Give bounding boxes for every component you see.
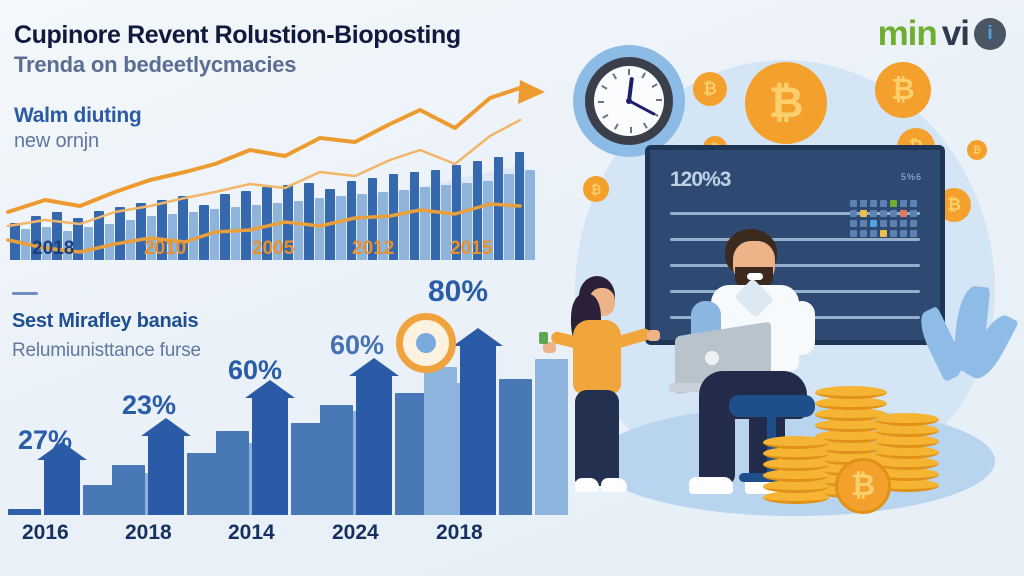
illustration-panel: min vi i: [545, 0, 1024, 576]
bottom-chart: [0, 300, 545, 515]
top-axis-tick-1: 2010: [144, 238, 186, 260]
brand-logo[interactable]: min vi i: [878, 14, 1006, 54]
logo-text-primary: min: [878, 14, 937, 54]
top-chart-trend-lines: [0, 80, 545, 260]
monitor-small-text: 5%6: [901, 172, 922, 182]
person-woman-illustration: [563, 276, 637, 514]
data-label-80: 80%: [428, 275, 488, 309]
bitcoin-coin-large: ₿: [745, 62, 827, 144]
page-title: Cupinore Revent Rolustion-Bioposting: [14, 22, 524, 49]
infographic-canvas: Cupinore Revent Rolustion-Bioposting Tre…: [0, 0, 1024, 576]
bitcoin-coin-small-1: ₿: [693, 72, 727, 106]
plant-decoration: [926, 286, 1016, 466]
trend-arrowhead: [518, 80, 545, 104]
bitcoin-coin-medium: ₿: [875, 62, 931, 118]
bitcoin-coin-front: ₿: [835, 458, 891, 514]
section-divider: [12, 292, 38, 295]
monitor-heatmap-grid: [850, 200, 926, 240]
data-label-60-a: 60%: [228, 355, 282, 386]
bottom-axis-tick-2: 2014: [228, 521, 275, 545]
logo-badge-icon: i: [974, 18, 1006, 50]
data-label-60-b: 60%: [330, 330, 384, 361]
logo-text-secondary: vi: [942, 14, 969, 54]
monitor-value: 120%3: [670, 168, 730, 192]
top-axis-tick-4: 2015: [450, 238, 492, 260]
bitcoin-coin-tiny-2: ₿: [967, 140, 987, 160]
bottom-axis-tick-3: 2024: [332, 521, 379, 545]
top-axis-tick-2: 2005: [252, 238, 294, 260]
top-axis-tick-0: 2018: [32, 238, 74, 260]
top-axis-tick-3: 2012: [352, 238, 394, 260]
bottom-axis-tick-1: 2018: [125, 521, 172, 545]
bottom-chart-x-axis: 2016 2018 2014 2024 2018: [0, 521, 545, 551]
page-subtitle: Trenda on bedeetlycmacies: [14, 52, 524, 78]
bitcoin-coin-tiny-3: ₿: [583, 176, 609, 202]
bottom-axis-tick-0: 2016: [22, 521, 69, 545]
top-chart-x-axis: 2018 2010 2005 2012 2015: [0, 238, 545, 266]
left-charts-panel: Cupinore Revent Rolustion-Bioposting Tre…: [0, 0, 545, 576]
coin-stack-left: [763, 426, 829, 504]
bottom-axis-tick-4: 2018: [436, 521, 483, 545]
data-label-23: 23%: [122, 390, 176, 421]
data-label-27: 27%: [18, 425, 72, 456]
clock-icon: [573, 45, 685, 157]
target-donut-icon: [396, 313, 456, 373]
